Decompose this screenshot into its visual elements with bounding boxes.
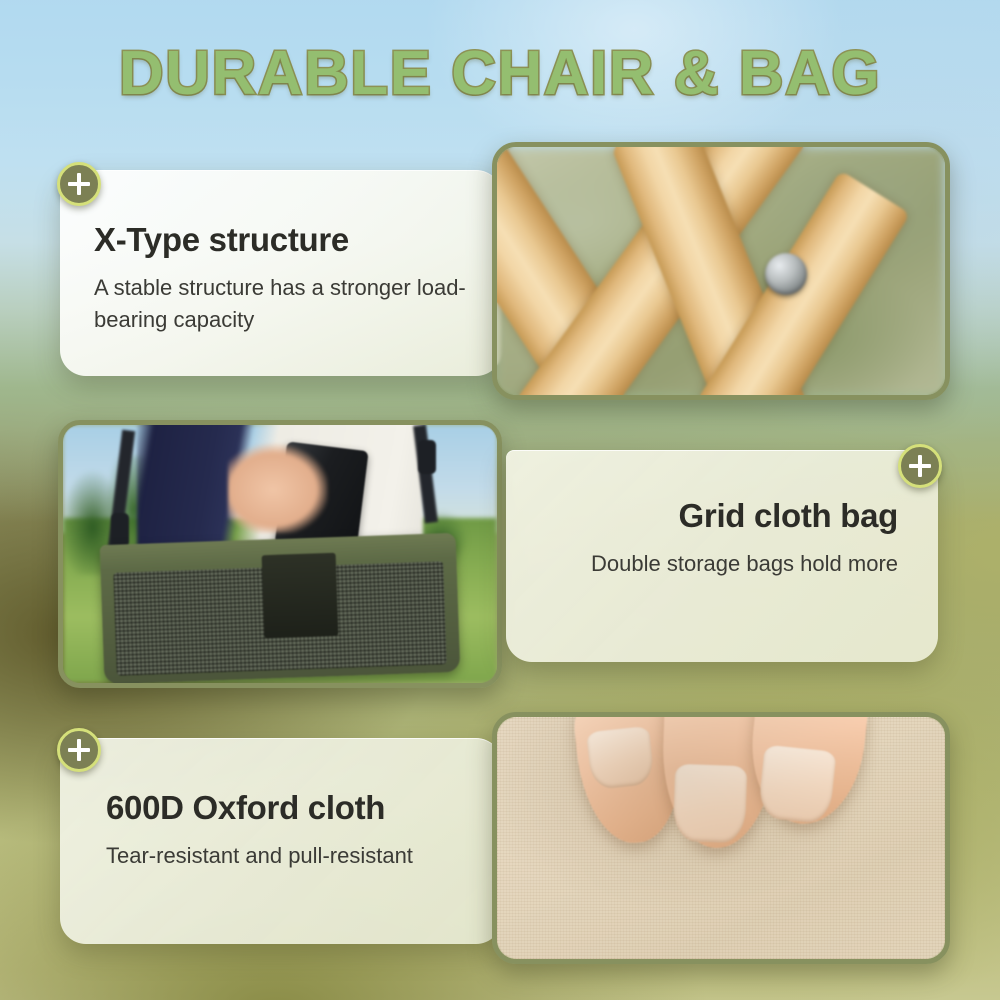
- photo-blur-overlay: [497, 717, 945, 959]
- feature-card-x-type-structure: X-Type structure A stable structure has …: [60, 170, 502, 376]
- feature-card-title: X-Type structure: [94, 222, 502, 258]
- photo-grid-cloth-bag: [58, 420, 502, 688]
- feature-card-description: A stable structure has a stronger load-b…: [94, 272, 502, 335]
- feature-card-title: Grid cloth bag: [506, 498, 898, 534]
- photo-oxford-cloth-texture: [492, 712, 950, 964]
- plus-icon[interactable]: [57, 728, 101, 772]
- feature-card-description: Tear-resistant and pull-resistant: [106, 840, 502, 872]
- feature-card-600d-oxford-cloth: 600D Oxford cloth Tear-resistant and pul…: [60, 738, 502, 944]
- photo-blur-overlay: [497, 147, 945, 395]
- infographic-stage: DURABLE CHAIR & BAG X-Type structure A s…: [0, 0, 1000, 1000]
- photo-x-type-frame-joint: [492, 142, 950, 400]
- plus-icon[interactable]: [57, 162, 101, 206]
- plus-icon[interactable]: [898, 444, 942, 488]
- feature-card-title: 600D Oxford cloth: [106, 790, 502, 826]
- feature-card-description: Double storage bags hold more: [506, 548, 898, 580]
- photo-blur-overlay: [63, 425, 497, 683]
- feature-card-grid-cloth-bag: Grid cloth bag Double storage bags hold …: [506, 450, 938, 662]
- page-title: DURABLE CHAIR & BAG: [0, 38, 1000, 109]
